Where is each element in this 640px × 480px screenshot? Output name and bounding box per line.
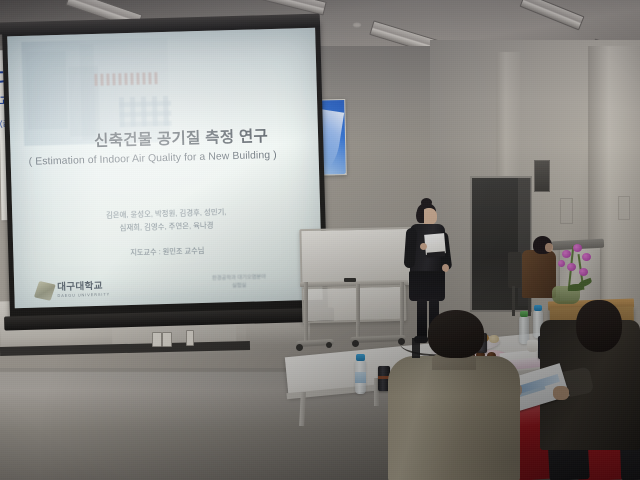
slide-surface: 신축건물 공기질 측정 연구 ( Estimation of Indoor Ai…: [7, 28, 322, 308]
whiteboard-marker: [344, 278, 356, 282]
slide-authors: 김은애, 윤성오, 박정원, 김경후, 성민기, 심재희, 김영수, 주연은, …: [12, 204, 321, 238]
side-chair: [508, 252, 521, 288]
collage-grid: [119, 96, 172, 127]
side-chair-leg: [512, 286, 515, 316]
collage-block: [26, 51, 68, 130]
smoke-detector-icon: [352, 22, 362, 28]
orchid-flower: [573, 244, 582, 252]
slide-department-line2: 실험실: [184, 280, 294, 291]
projection-screen: 신축건물 공기질 측정 연구 ( Estimation of Indoor Ai…: [2, 20, 328, 321]
orchid-flower: [567, 263, 576, 271]
slide-title: 신축건물 공기질 측정 연구: [94, 123, 311, 151]
whiteboard-caster-wheel: [352, 340, 359, 347]
power-outlet: [162, 332, 172, 347]
slide-subtitle: ( Estimation of Indoor Air Quality for a…: [29, 149, 319, 168]
bottle-label: [355, 372, 366, 383]
presenter-hair-bun: [421, 198, 432, 207]
orchid-leaf: [577, 278, 592, 288]
presenter-skirt: [409, 271, 445, 301]
orchid-flower: [582, 253, 591, 261]
whiteboard-leg: [304, 282, 308, 344]
bottle-cap: [356, 354, 365, 361]
slide-advisor: 지도교수 : 원민조 교수님: [13, 243, 321, 262]
slide-department: 환경공학과 대기오염분야 실험실: [184, 272, 294, 291]
power-outlet: [152, 332, 162, 347]
collage-block: [79, 44, 96, 140]
orchid-flower: [562, 250, 571, 258]
university-logo: 대구대학교 DAEGU UNIVERSITY: [36, 281, 110, 300]
whiteboard-leg: [400, 282, 404, 338]
collage-tile-row: [94, 72, 160, 86]
logo-name-en: DAEGU UNIVERSITY: [57, 293, 110, 298]
whiteboard-lower-panel: [302, 285, 407, 324]
bottle-cap: [520, 311, 528, 317]
photo-scene: 대 고 . (금) 발표회 표회 대구대학교 환경공학과 신축건물 공기질 측정…: [0, 0, 640, 480]
bottle-cap: [534, 305, 542, 311]
daegu-university-logo-icon: [34, 281, 56, 301]
foreground-man-head: [428, 310, 484, 358]
whiteboard-leg: [356, 284, 360, 342]
food-item: [489, 335, 499, 343]
paper-cup: [527, 340, 538, 352]
whiteboard-caster-wheel: [296, 344, 303, 351]
whiteboard: [299, 227, 412, 287]
wall-plate: [560, 198, 573, 224]
presenter-leg: [417, 299, 427, 339]
reader-hand: [553, 386, 569, 400]
wall-plate: [618, 196, 630, 220]
presenter-hair-side: [416, 208, 424, 223]
power-outlet: [186, 330, 194, 346]
presenter-hand: [420, 243, 427, 250]
orchid-plant: [548, 236, 600, 296]
background-person-legs: [412, 338, 420, 358]
orchid-flower: [579, 268, 588, 276]
orchid-flower: [558, 260, 565, 267]
reader-head: [576, 300, 622, 352]
wall-speaker-icon: [534, 160, 550, 192]
logo-text: 대구대학교 DAEGU UNIVERSITY: [57, 282, 110, 299]
whiteboard-caster-wheel: [326, 342, 332, 348]
